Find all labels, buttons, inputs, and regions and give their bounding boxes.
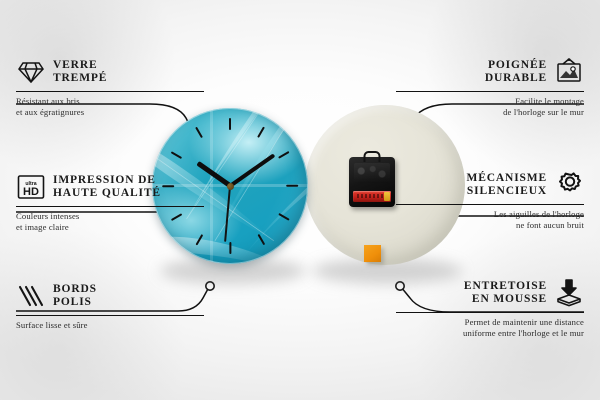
battery-positive-terminal bbox=[384, 192, 390, 201]
gear-icon bbox=[554, 170, 584, 200]
feature-title: POIGNÉE DURABLE bbox=[485, 59, 547, 85]
feature-heading: MÉCANISME SILENCIEUX bbox=[396, 170, 584, 200]
feature-poignee-durable[interactable]: POIGNÉE DURABLE Facilite le montage de l… bbox=[396, 57, 584, 118]
feature-underline bbox=[396, 204, 584, 205]
feature-heading: POIGNÉE DURABLE bbox=[396, 57, 584, 87]
feature-title: MÉCANISME SILENCIEUX bbox=[467, 172, 548, 198]
feature-heading: ultra HD IMPRESSION DE HAUTE QUALITÉ bbox=[16, 172, 204, 202]
diamond-icon bbox=[16, 57, 46, 87]
feature-impression-haute-qualite[interactable]: ultra HD IMPRESSION DE HAUTE QUALITÉ Cou… bbox=[16, 172, 204, 233]
battery-label-band bbox=[357, 194, 383, 198]
foam-spacer-icon bbox=[554, 278, 584, 308]
feature-heading: BORDS POLIS bbox=[16, 281, 204, 311]
aa-battery bbox=[353, 191, 391, 202]
feature-mecanisme-silencieux[interactable]: MÉCANISME SILENCIEUX Les aiguilles de l'… bbox=[396, 170, 584, 231]
polished-edges-icon bbox=[16, 281, 46, 311]
quartz-movement bbox=[349, 157, 395, 207]
feature-title: BORDS POLIS bbox=[53, 283, 97, 309]
feature-title: VERRE TREMPÉ bbox=[53, 59, 107, 85]
feature-underline bbox=[396, 312, 584, 313]
feature-description: Permet de maintenir une distance uniform… bbox=[396, 317, 584, 339]
feature-underline bbox=[16, 206, 204, 207]
feature-description: Les aiguilles de l'horloge ne font aucun… bbox=[396, 209, 584, 231]
movement-hanger-icon bbox=[364, 151, 381, 162]
feature-underline bbox=[16, 91, 204, 92]
svg-text:HD: HD bbox=[23, 186, 39, 198]
wall-hanger-icon bbox=[554, 57, 584, 87]
feature-heading: ENTRETOISE EN MOUSSE bbox=[396, 278, 584, 308]
feature-underline bbox=[396, 91, 584, 92]
foam-spacer bbox=[364, 245, 381, 262]
feature-underline bbox=[16, 315, 204, 316]
feature-verre-trempe[interactable]: VERRE TREMPÉ Résistant aux bris et aux é… bbox=[16, 57, 204, 118]
feature-description: Couleurs intenses et image claire bbox=[16, 211, 204, 233]
feature-bords-polis[interactable]: BORDS POLIS Surface lisse et sûre bbox=[16, 281, 204, 331]
feature-title: ENTRETOISE EN MOUSSE bbox=[464, 280, 547, 306]
feature-description: Facilite le montage de l'horloge sur le … bbox=[396, 96, 584, 118]
feature-heading: VERRE TREMPÉ bbox=[16, 57, 204, 87]
feature-description: Surface lisse et sûre bbox=[16, 320, 204, 331]
feature-entretoise-en-mousse[interactable]: ENTRETOISE EN MOUSSE Permet de maintenir… bbox=[396, 278, 584, 339]
movement-embossing bbox=[354, 163, 390, 183]
infographic-canvas: VERRE TREMPÉ Résistant aux bris et aux é… bbox=[0, 0, 600, 400]
feature-description: Résistant aux bris et aux égratignures bbox=[16, 96, 204, 118]
ultra-hd-icon: ultra HD bbox=[16, 172, 46, 202]
feature-title: IMPRESSION DE HAUTE QUALITÉ bbox=[53, 174, 161, 200]
